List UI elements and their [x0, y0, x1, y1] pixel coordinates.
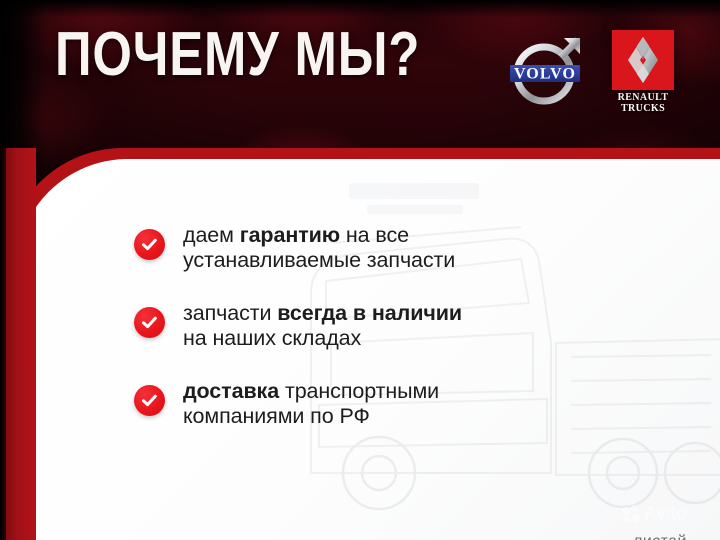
benefit-3-tail: транспортными	[279, 379, 439, 403]
renault-trucks-logo: RENAULT TRUCKS	[605, 30, 681, 114]
benefit-3-highlight: доставка	[183, 379, 279, 403]
check-circle-icon	[134, 385, 165, 416]
avito-watermark: Avito	[622, 503, 686, 524]
swipe-hint: листай	[604, 533, 716, 540]
benefits-list: даем гарантию на все устанавливаемые зап…	[134, 223, 554, 457]
avito-wordmark: Avito	[644, 503, 686, 524]
benefit-1-tail: на все	[340, 223, 409, 247]
avito-dots-icon	[622, 505, 641, 522]
content-panel: даем гарантию на все устанавливаемые зап…	[5, 148, 720, 540]
page-title: ПОЧЕМУ МЫ?	[55, 24, 420, 86]
renault-line1: RENAULT	[605, 93, 681, 104]
left-red-stripe	[5, 148, 36, 540]
list-item: запчасти всегда в наличии на наших склад…	[134, 301, 554, 351]
list-item: даем гарантию на все устанавливаемые зап…	[134, 223, 554, 273]
left-dark-edge	[0, 148, 6, 540]
swipe-hint-label: листай	[604, 533, 716, 540]
benefit-3-line2: компаниями по РФ	[183, 404, 370, 428]
list-item-text: даем гарантию на все устанавливаемые зап…	[183, 223, 455, 273]
benefit-1-lead: даем	[183, 223, 240, 247]
list-item-text: доставка транспортными компаниями по РФ	[183, 379, 439, 429]
renault-wordmark: RENAULT TRUCKS	[605, 93, 681, 114]
renault-line2: TRUCKS	[605, 104, 681, 115]
benefit-1-line2: устанавливаемые запчасти	[183, 248, 455, 272]
benefit-1-highlight: гарантию	[240, 223, 340, 247]
content-panel-inner: даем гарантию на все устанавливаемые зап…	[16, 159, 720, 540]
check-circle-icon	[134, 307, 165, 338]
volvo-logo: VOLVO	[508, 32, 586, 110]
volvo-icon: VOLVO	[508, 32, 586, 110]
renault-diamond-icon	[612, 30, 674, 90]
list-item: доставка транспортными компаниями по РФ	[134, 379, 554, 429]
benefit-2-lead: запчасти	[183, 301, 277, 325]
volvo-wordmark: VOLVO	[514, 66, 576, 83]
benefit-2-highlight: всегда в наличии	[277, 301, 462, 325]
creative-banner: ПОЧЕМУ МЫ? VOLVO	[0, 0, 720, 540]
list-item-text: запчасти всегда в наличии на наших склад…	[183, 301, 462, 351]
check-circle-icon	[134, 229, 165, 260]
benefit-2-line2: на наших складах	[183, 326, 361, 350]
header-top-shade	[0, 0, 720, 18]
